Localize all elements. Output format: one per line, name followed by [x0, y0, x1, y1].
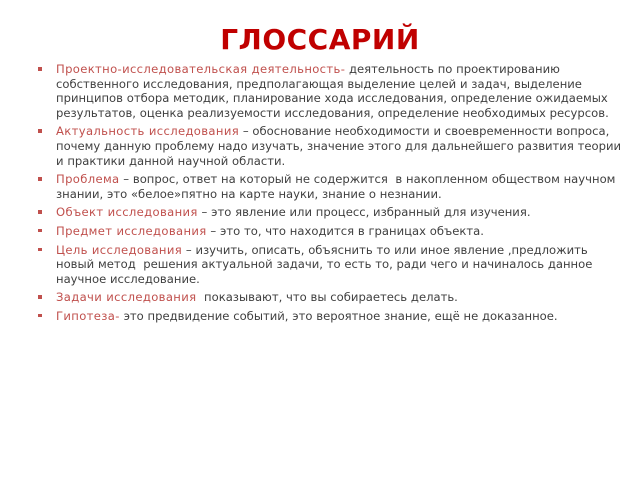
square-bullet-icon — [38, 229, 42, 233]
square-bullet-icon — [38, 129, 42, 133]
list-item: Цель исследования – изучить, описать, об… — [30, 243, 622, 287]
glossary-list: Проектно-исследовательская деятельность-… — [30, 62, 622, 328]
glossary-definition: – это то, что находится в границах объек… — [207, 224, 484, 238]
list-item: Проблема – вопрос, ответ на который не с… — [30, 172, 622, 201]
glossary-term: Предмет исследования — [56, 224, 207, 238]
slide-canvas: ГЛОССАРИЙ Проектно-исследовательская дея… — [0, 0, 640, 480]
square-bullet-icon — [38, 295, 42, 299]
square-bullet-icon — [38, 314, 42, 318]
list-item: Объект исследования – это явление или пр… — [30, 205, 622, 220]
square-bullet-icon — [38, 177, 42, 181]
glossary-term: Проектно-исследовательская деятельность- — [56, 62, 345, 76]
glossary-term: Проблема — [56, 172, 120, 186]
list-item: Предмет исследования – это то, что наход… — [30, 224, 622, 239]
glossary-term: Задачи исследования — [56, 290, 196, 304]
glossary-definition: – это явление или процесс, избранный для… — [198, 205, 531, 219]
square-bullet-icon — [38, 248, 42, 252]
list-item: Актуальность исследования – обоснование … — [30, 124, 622, 168]
list-item: Гипотеза- это предвидение событий, это в… — [30, 309, 622, 324]
glossary-definition: это предвидение событий, это вероятное з… — [120, 309, 558, 323]
list-item: Проектно-исследовательская деятельность-… — [30, 62, 622, 120]
glossary-term: Гипотеза- — [56, 309, 120, 323]
square-bullet-icon — [38, 210, 42, 214]
page-title: ГЛОССАРИЙ — [0, 24, 640, 56]
glossary-definition: – вопрос, ответ на который не содержится… — [56, 172, 619, 201]
square-bullet-icon — [38, 67, 42, 71]
glossary-term: Актуальность исследования — [56, 124, 239, 138]
glossary-term: Объект исследования — [56, 205, 198, 219]
glossary-term: Цель исследования — [56, 243, 182, 257]
list-item: Задачи исследования показывают, что вы с… — [30, 290, 622, 305]
glossary-definition: показывают, что вы собираетесь делать. — [196, 290, 457, 304]
